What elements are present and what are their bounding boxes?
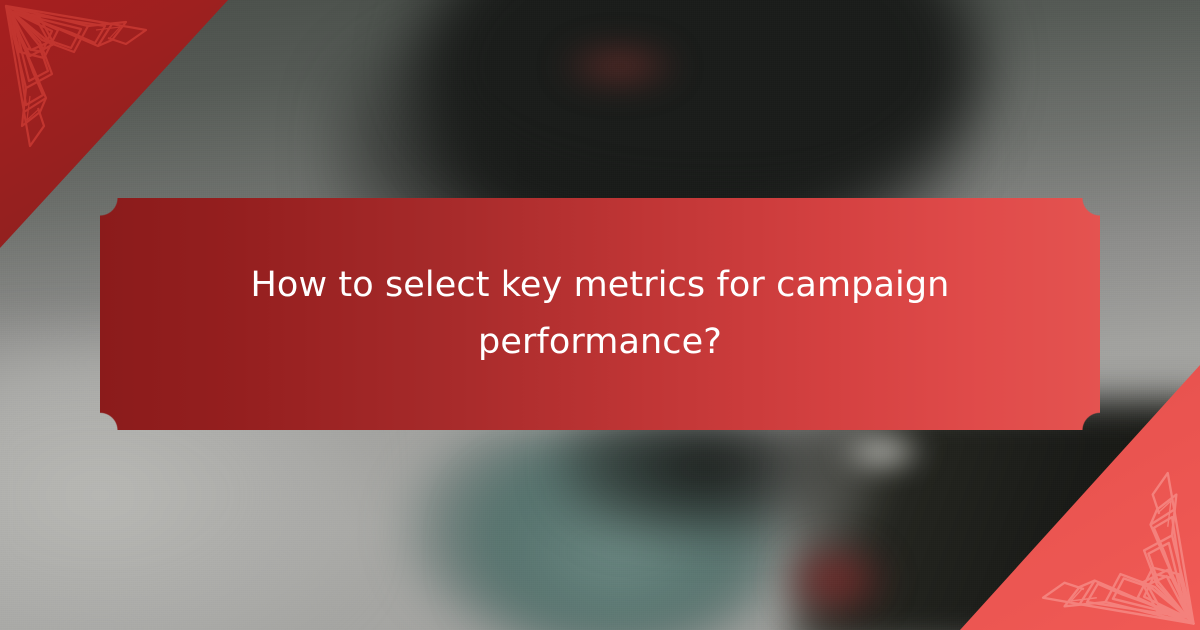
headline-banner: How to select key metrics for campaign p… <box>100 198 1100 430</box>
headline-text: How to select key metrics for campaign p… <box>100 198 1100 430</box>
screenshot-canvas: How to select key metrics for campaign p… <box>0 0 1200 630</box>
